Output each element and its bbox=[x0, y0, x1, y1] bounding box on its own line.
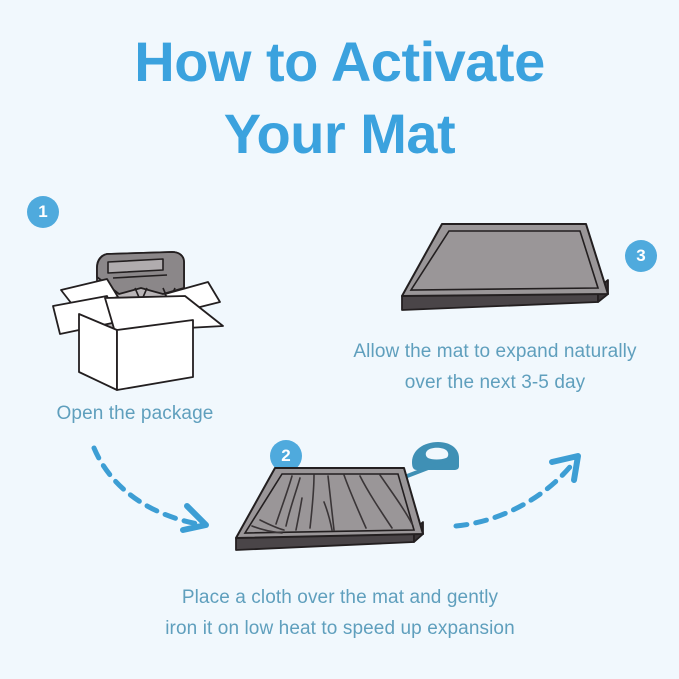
infographic-canvas: How to Activate Your Mat 1 bbox=[0, 0, 679, 679]
step-1-caption: Open the package bbox=[0, 398, 270, 429]
wrinkled-mat-illustration bbox=[232, 462, 427, 567]
arrow-step2-to-step3 bbox=[452, 440, 592, 545]
page-title: How to Activate Your Mat bbox=[0, 26, 679, 170]
title-line-2: Your Mat bbox=[0, 98, 679, 170]
step-2-caption-line-2: iron it on low heat to speed up expansio… bbox=[105, 613, 575, 644]
step-2-caption-line-1: Place a cloth over the mat and gently bbox=[105, 582, 575, 613]
step-2-caption: Place a cloth over the mat and gently ir… bbox=[105, 582, 575, 644]
flat-mat-illustration bbox=[398, 218, 613, 328]
open-box-illustration bbox=[45, 222, 245, 402]
step-3-caption: Allow the mat to expand naturally over t… bbox=[320, 336, 670, 398]
step-3-caption-line-1: Allow the mat to expand naturally bbox=[320, 336, 670, 367]
arrow-step1-to-step2 bbox=[88, 442, 223, 547]
step-3-caption-line-2: over the next 3-5 day bbox=[320, 367, 670, 398]
step-badge-3: 3 bbox=[625, 240, 657, 272]
title-line-1: How to Activate bbox=[0, 26, 679, 98]
